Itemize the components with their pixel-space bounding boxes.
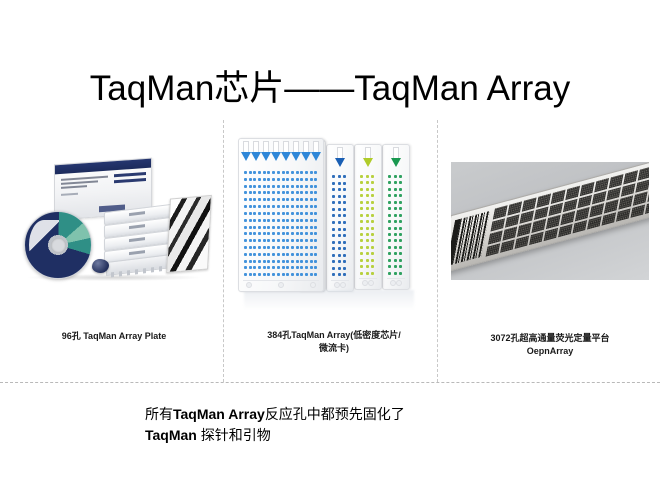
mf-well — [286, 232, 289, 235]
openarray-subarray — [515, 235, 530, 249]
mf-well — [272, 205, 275, 208]
mf-well — [286, 246, 289, 249]
mf-well — [253, 246, 256, 249]
mf-card-ports-front — [239, 139, 323, 167]
mf-well — [310, 266, 313, 269]
mf-well — [263, 260, 266, 263]
mf-well — [296, 260, 299, 263]
mf-well — [291, 185, 294, 188]
mf-well — [244, 226, 247, 229]
mf-well — [253, 273, 256, 276]
mf-well — [296, 226, 299, 229]
mf-well — [277, 273, 280, 276]
mf-well — [249, 185, 252, 188]
mf-well — [267, 171, 270, 174]
mf-well — [258, 246, 261, 249]
mf-well — [263, 253, 266, 256]
mf-well — [310, 239, 313, 242]
openarray-subarray — [621, 183, 636, 197]
mf-well — [277, 198, 280, 201]
mf-well — [314, 178, 317, 181]
mf-well — [249, 260, 252, 263]
mf-well — [263, 205, 266, 208]
kit-box-label-text — [61, 175, 117, 198]
openarray-subarray — [520, 210, 535, 224]
mf-well — [305, 260, 308, 263]
kit-foil-pouch — [166, 195, 212, 273]
mf-well — [277, 191, 280, 194]
mf-well — [258, 266, 261, 269]
mf-well — [291, 232, 294, 235]
mf-well — [263, 219, 266, 222]
openarray-subarray — [500, 239, 515, 253]
mf-well — [314, 260, 317, 263]
mf-card-back-yellow-green — [354, 144, 382, 290]
mf-well — [253, 266, 256, 269]
mf-fill-port — [337, 147, 344, 167]
mf-well — [296, 185, 299, 188]
mf-well — [253, 226, 256, 229]
mf-well — [267, 219, 270, 222]
mf-well — [291, 171, 294, 174]
mf-well — [258, 253, 261, 256]
mf-well — [258, 260, 261, 263]
mf-card-ports — [327, 145, 353, 173]
mf-well — [314, 191, 317, 194]
caption-line-2: OepnArray — [451, 345, 649, 358]
mf-well — [258, 212, 261, 215]
mf-well-grid — [388, 175, 404, 277]
mf-well — [310, 232, 313, 235]
mf-well — [310, 178, 313, 181]
mf-well — [272, 185, 275, 188]
mf-well — [305, 226, 308, 229]
caption-line: 96孔 TaqMan Array Plate — [18, 330, 210, 343]
openarray-subarray — [618, 195, 633, 209]
mf-well — [296, 171, 299, 174]
openarray-subarray — [590, 203, 605, 217]
mf-well — [263, 185, 266, 188]
mf-well — [314, 198, 317, 201]
mf-well — [253, 219, 256, 222]
mf-well — [314, 273, 317, 276]
mf-well — [314, 246, 317, 249]
openarray-subarray — [517, 223, 532, 237]
mf-well — [286, 185, 289, 188]
mf-well — [282, 253, 285, 256]
kit-box-barcode-block — [114, 172, 146, 186]
mf-well — [282, 178, 285, 181]
mf-well — [263, 191, 266, 194]
mf-well — [258, 273, 261, 276]
mf-well — [296, 219, 299, 222]
mf-well — [291, 266, 294, 269]
mf-well — [305, 171, 308, 174]
slide-title: TaqMan芯片——TaqMan Array — [30, 68, 630, 110]
image-taqman-array-microfluidic-cards — [236, 138, 426, 318]
mf-card-front-384 — [238, 138, 324, 292]
mf-card-reflection — [244, 290, 414, 310]
mf-well — [267, 226, 270, 229]
mf-well — [291, 260, 294, 263]
mf-well — [253, 171, 256, 174]
mf-well — [277, 260, 280, 263]
mf-well — [291, 198, 294, 201]
mf-well — [305, 273, 308, 276]
mf-well — [314, 253, 317, 256]
mf-well — [272, 273, 275, 276]
mf-well — [282, 273, 285, 276]
bottom-note-line-1: 所有TaqMan Array反应孔中都预先固化了 — [145, 404, 565, 425]
mf-well — [286, 205, 289, 208]
mf-well — [244, 260, 247, 263]
mf-well — [310, 171, 313, 174]
mf-well — [300, 266, 303, 269]
mf-card-back-blue — [326, 144, 354, 292]
mf-well — [249, 171, 252, 174]
openarray-subarray — [594, 178, 609, 192]
mf-well — [244, 198, 247, 201]
mf-well — [286, 219, 289, 222]
openarray-subarray — [606, 187, 621, 201]
mf-well — [300, 171, 303, 174]
openarray-subarray — [573, 220, 588, 234]
bottom-note-prefix: 所有 — [145, 406, 173, 422]
openarray-subarray — [565, 186, 580, 200]
mf-well — [258, 178, 261, 181]
mf-well — [258, 239, 261, 242]
mf-fill-port — [293, 141, 300, 161]
slide-canvas: TaqMan芯片——TaqMan Array — [0, 0, 660, 480]
mf-well — [249, 226, 252, 229]
mf-well — [263, 232, 266, 235]
mf-well — [286, 171, 289, 174]
mf-well — [300, 205, 303, 208]
mf-fill-port — [365, 147, 372, 167]
mf-well — [282, 185, 285, 188]
mf-well — [300, 246, 303, 249]
mf-well — [258, 185, 261, 188]
mf-well — [277, 246, 280, 249]
mf-well — [286, 239, 289, 242]
mf-well — [305, 198, 308, 201]
mf-well — [300, 198, 303, 201]
mf-well — [296, 253, 299, 256]
openarray-subarray — [602, 212, 617, 226]
openarray-subarray — [486, 243, 501, 257]
mf-well — [277, 212, 280, 215]
mf-well — [267, 273, 270, 276]
mf-well — [310, 191, 313, 194]
openarray-subarray — [561, 211, 576, 225]
caption-taqman-array-card-384: 384孔TaqMan Array(低密度芯片/ 微流卡) — [236, 329, 432, 355]
mf-well — [282, 260, 285, 263]
openarray-subarray — [604, 199, 619, 213]
mf-well — [291, 253, 294, 256]
mf-well — [286, 198, 289, 201]
guide-line-vertical-right — [437, 120, 438, 382]
slide-title-line1: TaqMan芯片——TaqMan Array — [30, 68, 630, 110]
openarray-subarray — [609, 174, 624, 188]
mf-well — [249, 253, 252, 256]
mf-well — [267, 178, 270, 181]
mf-well — [296, 232, 299, 235]
mf-well — [282, 191, 285, 194]
bottom-note-brand-2: TaqMan — [145, 427, 197, 443]
mf-well — [305, 185, 308, 188]
mf-well — [314, 239, 317, 242]
mf-card-ports — [355, 145, 381, 173]
mf-well — [263, 226, 266, 229]
mf-well — [296, 198, 299, 201]
openarray-subarray — [507, 201, 522, 215]
mf-well — [314, 171, 317, 174]
mf-well — [286, 266, 289, 269]
mf-well — [253, 178, 256, 181]
mf-well — [314, 226, 317, 229]
mf-well — [300, 226, 303, 229]
mf-well — [267, 266, 270, 269]
mf-well — [267, 260, 270, 263]
openarray-subarray — [529, 231, 544, 245]
mf-well — [267, 253, 270, 256]
mf-well — [296, 178, 299, 181]
mf-well — [253, 198, 256, 201]
mf-well — [244, 185, 247, 188]
mf-well — [244, 191, 247, 194]
mf-well — [263, 239, 266, 242]
openarray-subarray — [551, 190, 566, 204]
openarray-subarray — [548, 202, 563, 216]
openarray-subarray — [503, 226, 518, 240]
mf-well — [249, 212, 252, 215]
mf-well — [305, 212, 308, 215]
mf-well — [296, 212, 299, 215]
mf-well — [296, 239, 299, 242]
mf-well — [244, 232, 247, 235]
mf-well — [300, 219, 303, 222]
mf-card-foot — [359, 278, 377, 287]
openarray-subarray — [592, 191, 607, 205]
mf-well — [314, 232, 317, 235]
openarray-subarray — [638, 166, 649, 180]
mf-well — [253, 239, 256, 242]
openarray-subarray — [493, 205, 508, 219]
openarray-subarray — [616, 208, 631, 222]
openarray-subarray — [536, 194, 551, 208]
mf-well — [305, 205, 308, 208]
image-openarray-plate — [451, 162, 649, 280]
mf-well — [277, 253, 280, 256]
mf-well — [272, 232, 275, 235]
mf-well — [286, 260, 289, 263]
mf-card-foot — [387, 278, 405, 287]
mf-well — [249, 246, 252, 249]
bottom-note-suffix: 反应孔中都预先固化了 — [265, 406, 405, 422]
mf-well — [244, 205, 247, 208]
mf-well — [272, 198, 275, 201]
openarray-subarray — [633, 192, 648, 206]
mf-fill-port — [243, 141, 250, 161]
mf-well — [249, 178, 252, 181]
openarray-subarray — [544, 227, 559, 241]
mf-well — [258, 171, 261, 174]
mf-well — [286, 273, 289, 276]
openarray-subarray — [577, 194, 592, 208]
mf-well-grid — [332, 175, 348, 279]
mf-well — [267, 185, 270, 188]
mf-well — [300, 273, 303, 276]
mf-well — [253, 191, 256, 194]
openarray-subarray — [623, 170, 638, 184]
mf-well — [249, 232, 252, 235]
kit-cd-label-band — [29, 220, 59, 270]
mf-well — [272, 246, 275, 249]
mf-well — [291, 191, 294, 194]
openarray-subarray — [491, 218, 506, 232]
mf-well — [286, 226, 289, 229]
mf-fill-port — [263, 141, 270, 161]
caption-line-2: 微流卡) — [236, 342, 432, 355]
mf-well — [258, 232, 261, 235]
mf-well — [286, 191, 289, 194]
mf-well — [277, 171, 280, 174]
openarray-slide — [451, 162, 649, 274]
mf-well — [272, 239, 275, 242]
mf-well — [310, 219, 313, 222]
openarray-subarray — [488, 230, 503, 244]
mf-well — [272, 191, 275, 194]
mf-well-grid-384 — [244, 171, 318, 279]
mf-well — [277, 205, 280, 208]
mf-well — [310, 253, 313, 256]
mf-well — [244, 212, 247, 215]
mf-well — [314, 266, 317, 269]
guide-line-vertical-left — [223, 120, 224, 382]
mf-well — [244, 178, 247, 181]
mf-well — [310, 273, 313, 276]
openarray-subarray — [546, 215, 561, 229]
mf-well — [305, 253, 308, 256]
mf-well — [272, 178, 275, 181]
mf-well — [282, 219, 285, 222]
mf-well — [291, 219, 294, 222]
mf-card-ports — [383, 145, 409, 173]
mf-fill-port — [313, 141, 320, 161]
guide-line-horizontal — [0, 382, 660, 383]
mf-well — [272, 171, 275, 174]
caption-line-1: 384孔TaqMan Array(低密度芯片/ — [236, 329, 432, 342]
mf-well — [277, 178, 280, 181]
mf-card-foot — [331, 280, 349, 289]
mf-well — [272, 212, 275, 215]
openarray-subarray-grid — [486, 163, 649, 257]
openarray-subarray — [522, 197, 537, 211]
mf-well — [296, 266, 299, 269]
mf-card-back-green — [382, 144, 410, 290]
mf-fill-port — [303, 141, 310, 161]
mf-well — [249, 205, 252, 208]
mf-well — [296, 273, 299, 276]
mf-fill-port — [253, 141, 260, 161]
mf-well — [300, 253, 303, 256]
mf-well — [263, 171, 266, 174]
mf-well — [244, 273, 247, 276]
mf-well — [314, 219, 317, 222]
mf-well — [263, 178, 266, 181]
mf-well — [258, 198, 261, 201]
openarray-subarray — [534, 206, 549, 220]
mf-well — [310, 198, 313, 201]
openarray-subarray — [532, 219, 547, 233]
mf-well — [249, 239, 252, 242]
image-taqman-array-plate-kit — [18, 155, 210, 283]
openarray-subarray — [645, 200, 649, 214]
mf-fill-port — [273, 141, 280, 161]
mf-well — [305, 178, 308, 181]
mf-well — [291, 273, 294, 276]
mf-well — [314, 205, 317, 208]
mf-well — [277, 219, 280, 222]
mf-well — [258, 191, 261, 194]
mf-well — [272, 260, 275, 263]
mf-well — [244, 253, 247, 256]
mf-well — [244, 219, 247, 222]
openarray-subarray — [580, 182, 595, 196]
mf-well — [310, 185, 313, 188]
mf-well — [253, 205, 256, 208]
mf-well — [267, 198, 270, 201]
mf-well — [253, 260, 256, 263]
mf-well — [267, 239, 270, 242]
mf-well-grid — [360, 175, 376, 277]
mf-well — [249, 191, 252, 194]
mf-well — [300, 178, 303, 181]
mf-well — [249, 198, 252, 201]
mf-fill-port — [393, 147, 400, 167]
mf-well — [267, 246, 270, 249]
mf-well — [314, 212, 317, 215]
mf-well — [267, 205, 270, 208]
openarray-subarray — [647, 188, 649, 202]
openarray-subarray — [505, 214, 520, 228]
mf-well — [291, 212, 294, 215]
mf-well — [244, 246, 247, 249]
mf-well — [300, 212, 303, 215]
mf-well — [263, 246, 266, 249]
mf-well — [291, 246, 294, 249]
mf-well — [291, 178, 294, 181]
mf-well — [300, 185, 303, 188]
mf-fill-port — [283, 141, 290, 161]
caption-openarray-plate-3072: 3072孔超高通量荧光定量平台 OepnArray — [451, 332, 649, 358]
openarray-subarray — [631, 204, 646, 218]
kit-software-cd — [24, 211, 92, 279]
mf-well — [267, 212, 270, 215]
bottom-note-suffix-2: 探针和引物 — [197, 427, 271, 443]
mf-well — [286, 178, 289, 181]
mf-well — [305, 266, 308, 269]
mf-well — [272, 253, 275, 256]
mf-well — [300, 239, 303, 242]
openarray-subarray — [587, 216, 602, 230]
mf-well — [253, 232, 256, 235]
mf-well — [282, 198, 285, 201]
mf-well — [305, 219, 308, 222]
mf-well — [258, 219, 261, 222]
mf-well — [310, 246, 313, 249]
mf-well — [314, 185, 317, 188]
